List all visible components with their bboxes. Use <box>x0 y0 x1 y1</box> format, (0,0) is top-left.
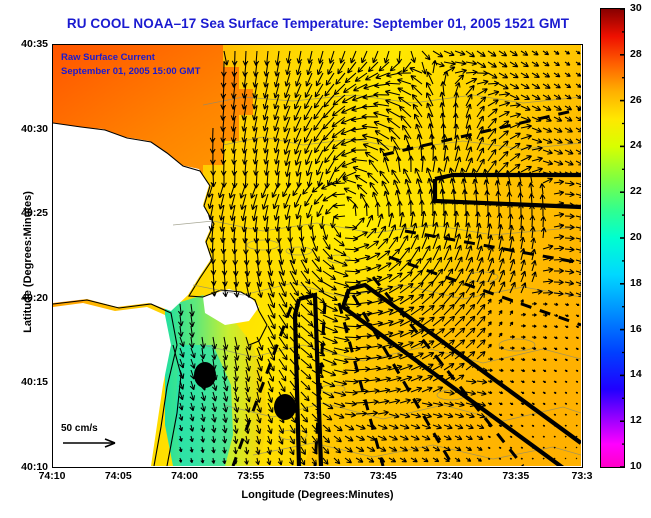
current-vector <box>565 458 566 459</box>
map-plot-area[interactable]: Raw Surface Current September 01, 2005 1… <box>52 44 583 468</box>
x-tick-label: 74:00 <box>171 470 198 482</box>
colorbar-tick-label: 18 <box>630 277 642 289</box>
colorbar-tick-label: 24 <box>630 139 642 151</box>
colorbar-tick-label: 30 <box>630 2 642 14</box>
current-annotation: Raw Surface Current September 01, 2005 1… <box>61 51 200 79</box>
current-vector <box>543 458 544 459</box>
colorbar-tick-label: 28 <box>630 48 642 60</box>
x-axis-label: Longitude (Degrees:Minutes) <box>52 489 583 501</box>
colorbar-tick-label: 20 <box>630 231 642 243</box>
current-vector <box>576 447 577 448</box>
x-tick-label: 73:40 <box>436 470 463 482</box>
current-vector <box>554 447 555 448</box>
y-tick-label: 40:15 <box>21 376 48 388</box>
x-tick-label: 73:50 <box>304 470 331 482</box>
radar-station-marker[interactable] <box>274 394 296 420</box>
colorbar-tick-label: 14 <box>630 368 642 380</box>
x-tick-label: 73:3 <box>571 470 592 482</box>
colorbar-tick-label: 12 <box>630 414 642 426</box>
x-tick-label: 73:35 <box>502 470 529 482</box>
annotation-line-1: Raw Surface Current <box>61 51 200 65</box>
current-vector <box>576 425 577 426</box>
current-vector <box>565 447 566 448</box>
x-tick-label: 74:05 <box>105 470 132 482</box>
colorbar <box>600 8 625 468</box>
sst-figure: RU COOL NOAA–17 Sea Surface Temperature:… <box>0 0 651 518</box>
scale-bar-label: 50 cm/s <box>61 423 123 434</box>
colorbar-tick-label: 10 <box>630 460 642 472</box>
current-vector <box>565 436 566 437</box>
scale-bar: 50 cm/s <box>61 423 123 455</box>
x-tick-label: 73:45 <box>370 470 397 482</box>
colorbar-tick-label: 26 <box>630 94 642 106</box>
current-vector <box>576 458 577 459</box>
annotation-line-2: September 01, 2005 15:00 GMT <box>61 65 200 79</box>
y-tick-label: 40:10 <box>21 461 48 473</box>
colorbar-tick-label: 16 <box>630 323 642 335</box>
colorbar-tick-label: 22 <box>630 185 642 197</box>
figure-title: RU COOL NOAA–17 Sea Surface Temperature:… <box>52 16 584 31</box>
y-tick-label: 40:35 <box>21 38 48 50</box>
y-tick-label: 40:30 <box>21 123 48 135</box>
current-vector <box>576 436 577 437</box>
y-axis-label: Latitude (Degrees:Minutes) <box>22 162 34 362</box>
radar-station-marker[interactable] <box>194 362 216 388</box>
current-vector <box>554 458 555 459</box>
x-tick-label: 73:55 <box>237 470 264 482</box>
scale-bar-arrow-icon <box>61 436 123 450</box>
sst-map-svg <box>53 45 581 466</box>
map-canvas: Raw Surface Current September 01, 2005 1… <box>53 45 582 467</box>
